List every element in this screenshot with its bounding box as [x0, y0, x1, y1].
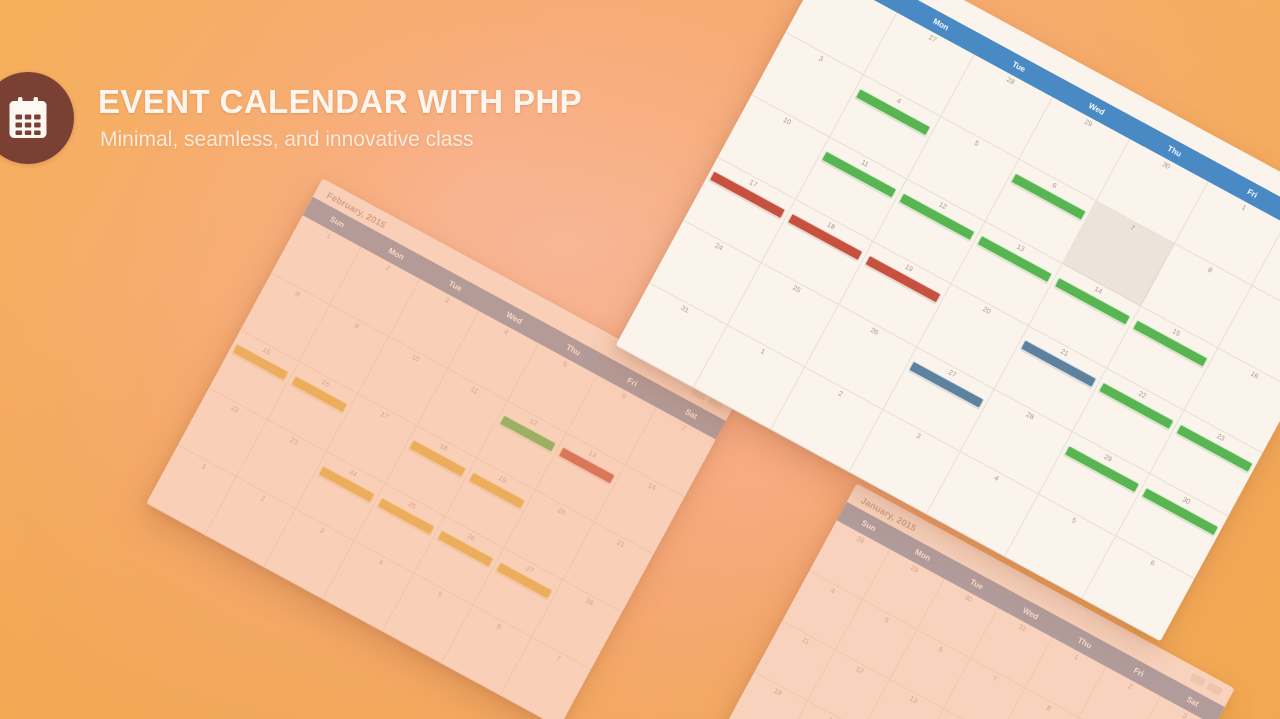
- calendar-icon: [8, 97, 48, 139]
- header-text-block: EVENT CALENDAR WITH PHP Minimal, seamles…: [98, 84, 582, 153]
- page-title: EVENT CALENDAR WITH PHP: [98, 84, 582, 120]
- page-subtitle: Minimal, seamless, and innovative class: [100, 127, 582, 152]
- calendar-icon-badge: [0, 72, 74, 164]
- poster-canvas: January, 2015 SunMonTueWedThuFriSat 2829…: [0, 0, 1280, 719]
- poster-header: EVENT CALENDAR WITH PHP Minimal, seamles…: [0, 72, 582, 164]
